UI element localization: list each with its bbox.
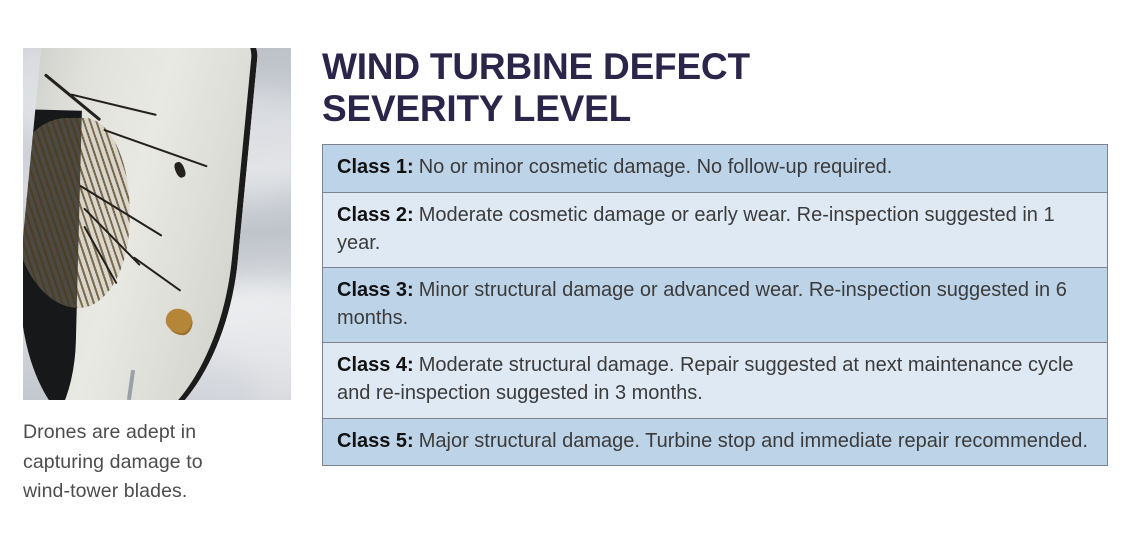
table-row: Class 2:Moderate cosmetic damage or earl… xyxy=(323,193,1107,268)
class-description: Minor structural damage or advanced wear… xyxy=(337,279,1067,329)
class-description: No or minor cosmetic damage. No follow-u… xyxy=(419,156,893,178)
wind-turbine-blade-damage-photo xyxy=(23,48,291,400)
figure-caption-line: Drones are adept in xyxy=(23,418,291,448)
class-description: Moderate cosmetic damage or early wear. … xyxy=(337,204,1055,254)
class-description: Major structural damage. Turbine stop an… xyxy=(419,430,1088,452)
class-label: Class 2: xyxy=(337,204,414,226)
table-row: Class 3:Minor structural damage or advan… xyxy=(323,268,1107,343)
figure-caption-line: capturing damage to xyxy=(23,448,291,478)
severity-panel: WIND TURBINE DEFECT SEVERITY LEVEL Class… xyxy=(322,46,1108,466)
class-label: Class 3: xyxy=(337,279,414,301)
table-row: Class 4:Moderate structural damage. Repa… xyxy=(323,343,1107,418)
severity-level-table: Class 1:No or minor cosmetic damage. No … xyxy=(322,144,1108,466)
page-title: WIND TURBINE DEFECT SEVERITY LEVEL xyxy=(322,46,1108,130)
class-label: Class 4: xyxy=(337,354,414,376)
blade-rust-spot xyxy=(165,308,193,334)
class-label: Class 1: xyxy=(337,156,414,178)
class-description: Moderate structural damage. Repair sugge… xyxy=(337,354,1074,404)
figure-caption-line: wind-tower blades. xyxy=(23,477,291,507)
blade-crack xyxy=(133,256,181,291)
figure-caption: Drones are adept in capturing damage to … xyxy=(23,418,291,507)
table-row: Class 1:No or minor cosmetic damage. No … xyxy=(323,145,1107,193)
turbine-blade-tip xyxy=(23,48,261,400)
page-title-line: WIND TURBINE DEFECT xyxy=(322,46,1108,88)
table-row: Class 5:Major structural damage. Turbine… xyxy=(323,419,1107,467)
page-title-line: SEVERITY LEVEL xyxy=(322,88,1108,130)
blade-chip xyxy=(173,161,187,179)
class-label: Class 5: xyxy=(337,430,414,452)
figure-panel: Drones are adept in capturing damage to … xyxy=(23,48,291,507)
